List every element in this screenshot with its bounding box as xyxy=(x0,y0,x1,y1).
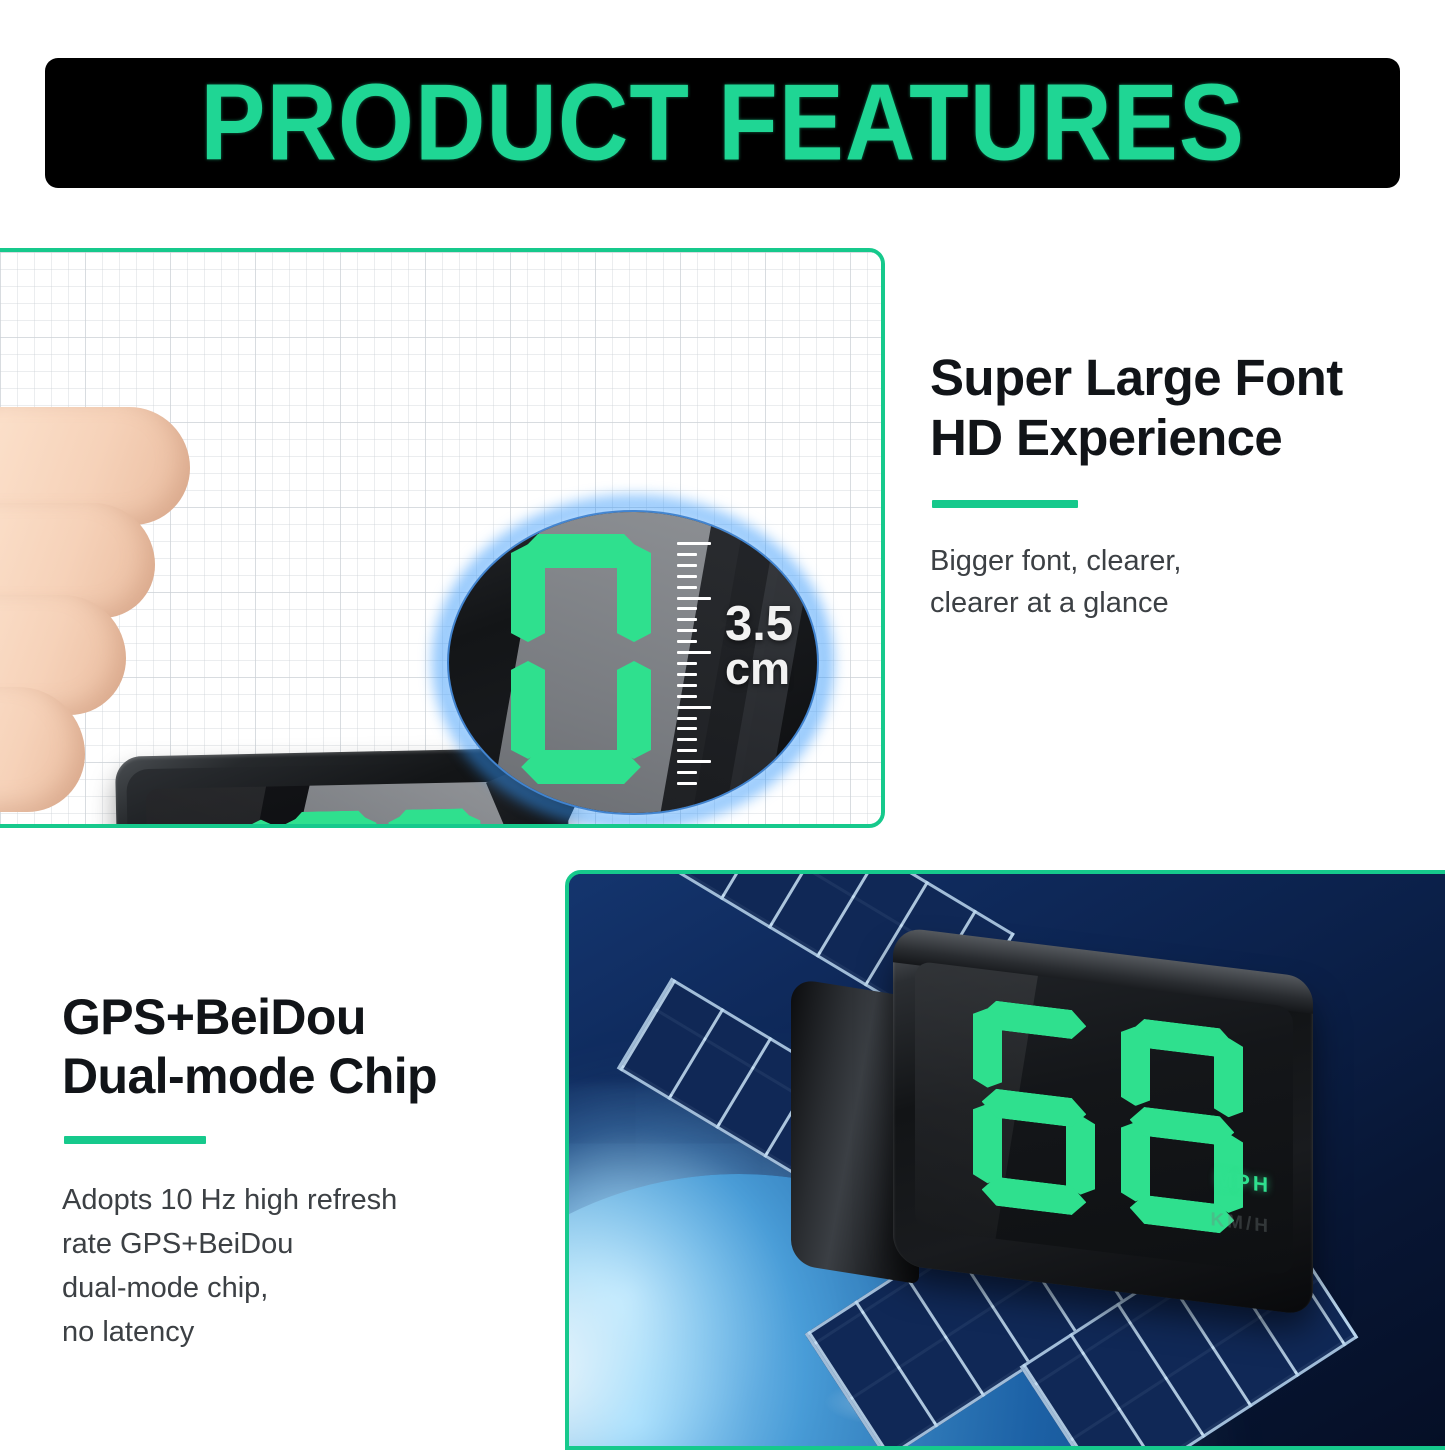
feature-heading-line2: Dual-mode Chip xyxy=(62,1047,567,1106)
page-title: PRODUCT FEATURES xyxy=(200,61,1245,185)
seven-segment-digit xyxy=(973,998,1095,1218)
feature-body-line2: clearer at a glance xyxy=(930,582,1420,624)
segment-a xyxy=(291,810,370,828)
hud-device-mph: MPH KM/H xyxy=(797,952,1317,1304)
segment-b xyxy=(1214,1036,1243,1119)
feature-panel-large-font: Km/h 3.5 cm xyxy=(0,248,885,828)
speed-readout xyxy=(973,998,1243,1236)
speed-unit-secondary-label: KM/H xyxy=(1210,1209,1271,1238)
ruler-tick xyxy=(677,629,697,632)
feature-heading-line2: HD Experience xyxy=(930,408,1420,468)
device-screen: MPH KM/H xyxy=(915,961,1293,1275)
ruler-tick xyxy=(677,706,711,709)
feature-body-line2: rate GPS+BeiDou xyxy=(62,1222,567,1266)
feature-heading: Super Large Font HD Experience xyxy=(930,348,1420,468)
accent-divider xyxy=(64,1136,206,1144)
measurement-label: 3.5 cm xyxy=(725,602,819,689)
feature-heading-line1: GPS+BeiDou xyxy=(62,988,567,1047)
ruler-tick xyxy=(677,618,697,621)
feature-body-line1: Adopts 10 Hz high refresh xyxy=(62,1178,567,1222)
ruler-tick xyxy=(677,640,697,643)
segment-f xyxy=(973,1007,1002,1090)
segment-d xyxy=(521,750,641,784)
feature-body-line1: Bigger font, clearer, xyxy=(930,540,1420,582)
accent-divider xyxy=(932,500,1078,508)
ruler-tick xyxy=(677,771,697,774)
ruler-tick xyxy=(677,662,697,665)
ruler-tick xyxy=(677,597,711,600)
measurement-unit: cm xyxy=(725,648,819,690)
seven-segment-digit xyxy=(511,534,651,784)
segment-f xyxy=(1121,1025,1150,1108)
ruler-tick xyxy=(677,564,697,567)
segment-b xyxy=(617,544,651,642)
ruler-tick xyxy=(677,553,697,556)
feature-body-line4: no latency xyxy=(62,1310,567,1354)
feature-heading: GPS+BeiDou Dual-mode Chip xyxy=(62,988,567,1106)
feature-body: Adopts 10 Hz high refresh rate GPS+BeiDo… xyxy=(62,1178,567,1354)
feature-body-line3: dual-mode chip, xyxy=(62,1266,567,1310)
feature-text-large-font: Super Large Font HD Experience Bigger fo… xyxy=(930,348,1420,624)
ruler-tick xyxy=(677,760,711,763)
ruler-tick xyxy=(677,749,697,752)
ruler-tick xyxy=(677,717,697,720)
ruler-tick xyxy=(677,738,697,741)
seven-segment-digit xyxy=(1121,1016,1243,1236)
ruler-tick xyxy=(677,607,697,610)
ruler-tick xyxy=(677,727,697,730)
seven-segment-digit xyxy=(284,810,379,828)
ruler-tick xyxy=(677,782,697,785)
ruler-tick xyxy=(677,651,711,654)
feature-heading-line1: Super Large Font xyxy=(930,348,1420,408)
seven-segment-digit xyxy=(180,812,275,828)
segment-f xyxy=(511,544,545,642)
ruler-tick xyxy=(677,575,697,578)
ruler-tick xyxy=(677,673,697,676)
ruler-tick xyxy=(677,695,697,698)
callout-body: 3.5 cm xyxy=(447,510,819,815)
feature-text-gps-beidou: GPS+BeiDou Dual-mode Chip Adopts 10 Hz h… xyxy=(62,988,567,1354)
ruler-tick xyxy=(677,586,697,589)
feature-body: Bigger font, clearer, clearer at a glanc… xyxy=(930,540,1420,624)
header-bar: PRODUCT FEATURES xyxy=(45,58,1400,188)
ruler-scale-icon xyxy=(677,542,729,782)
feature-panel-gps-beidou: MPH KM/H xyxy=(565,870,1445,1450)
magnifier-callout: 3.5 cm xyxy=(447,510,819,815)
ruler-tick xyxy=(677,542,711,545)
ruler-tick xyxy=(677,684,697,687)
magnified-digit xyxy=(511,534,651,784)
